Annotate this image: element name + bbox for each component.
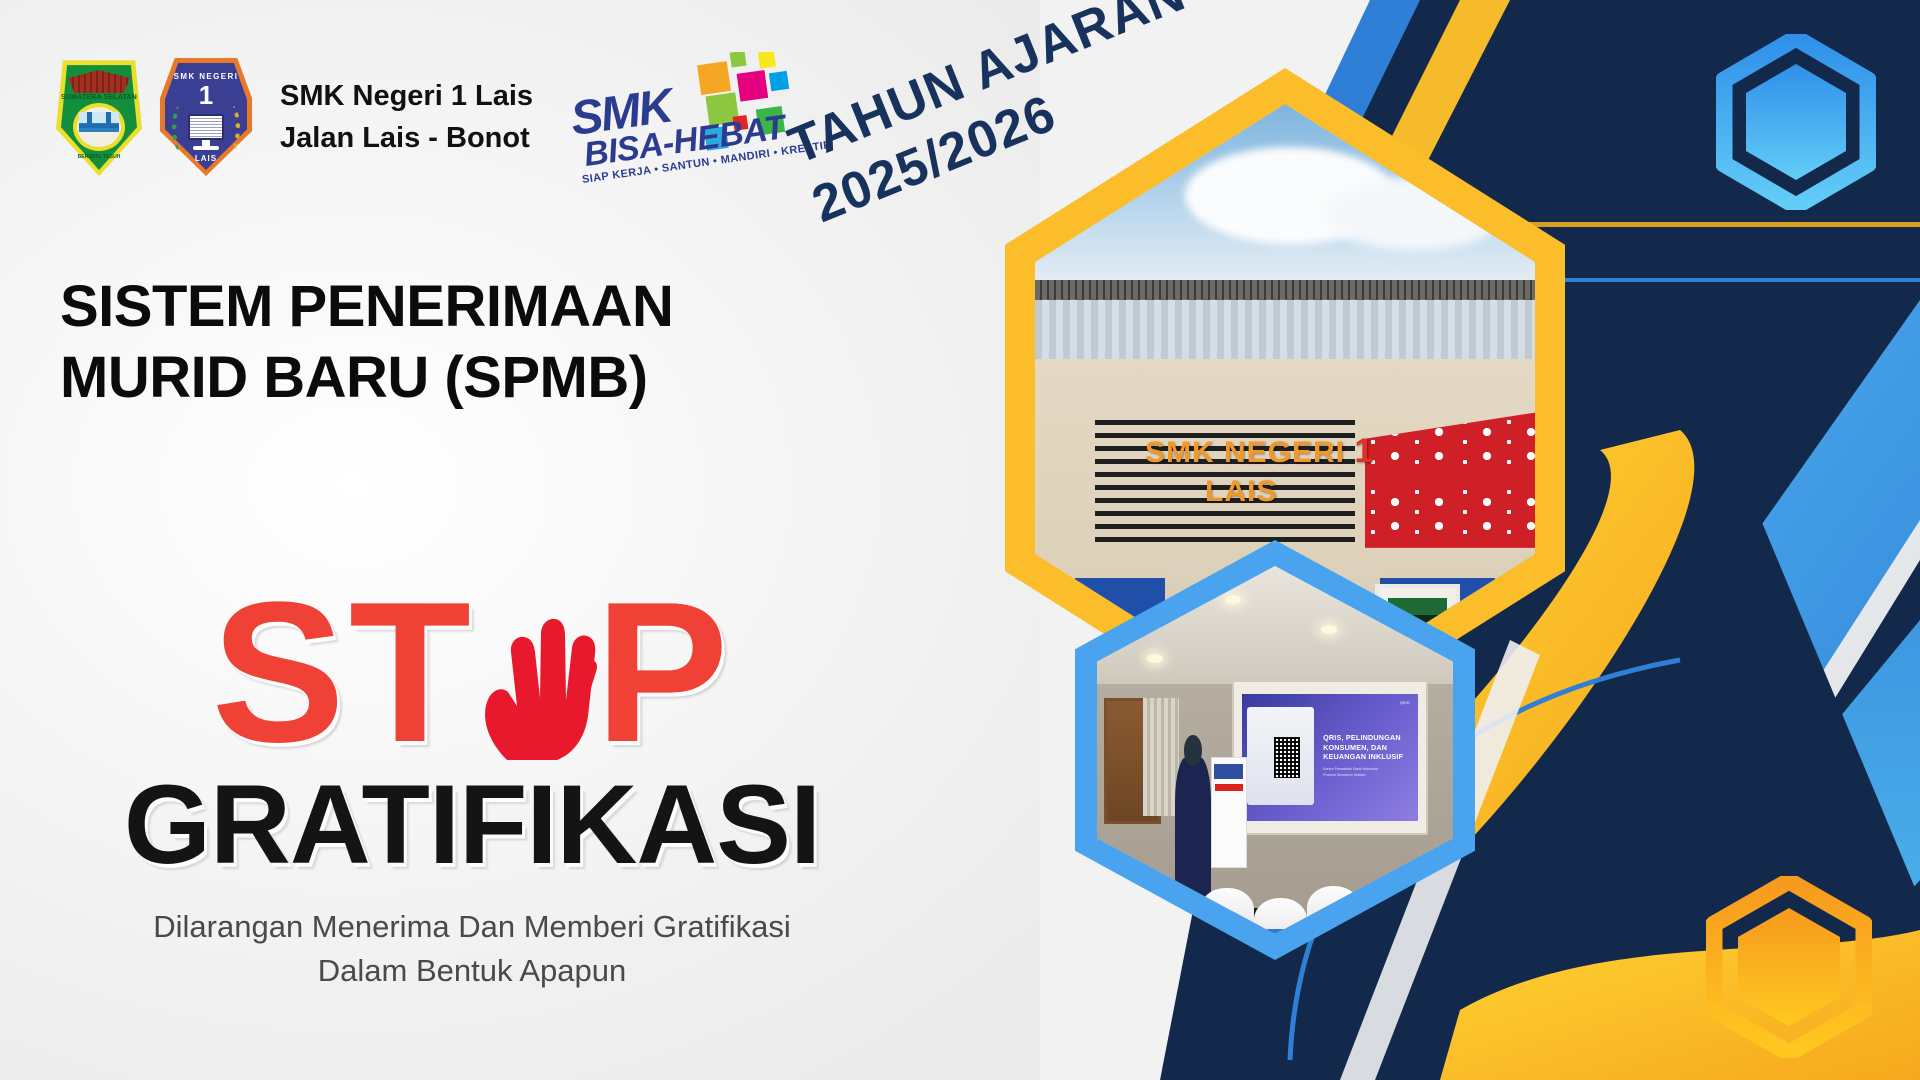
laurel-left [172, 106, 186, 150]
building-sign-line1: SMK NEGERI 1 [1145, 432, 1374, 471]
emblem-bottom-text: BERSATU TEGUH [56, 154, 142, 160]
blue-hexagon-icon [1716, 34, 1876, 210]
slide-sub-line2: Provinsi Sumatera Selatan [1323, 773, 1411, 778]
smk-bisa-hebat-logo: SMK BISA-HEBAT SIAP KERJA • SANTUN • MAN… [573, 52, 813, 182]
poster-canvas: SMK NEGERI 1 LAIS [0, 0, 1920, 1080]
building-sign-line2: LAIS [1205, 475, 1277, 509]
speaker-head [1184, 735, 1203, 766]
gratifikasi-sub-line2: Dalam Bentuk Apapun [62, 949, 882, 993]
page-title-line1: SISTEM PENERIMAAN [60, 272, 673, 343]
page-title: SISTEM PENERIMAAN MURID BARU (SPMB) [60, 272, 673, 414]
orange-hexagon-icon [1706, 876, 1872, 1058]
sign-text: SMK NEGERI [1145, 436, 1345, 469]
gratifikasi-sub-line1: Dilarangan Menerima Dan Memberi Gratifik… [62, 905, 882, 949]
banner-header [1214, 764, 1244, 779]
emblem-bridge-deck [79, 124, 119, 128]
roof-edge [1035, 280, 1535, 299]
window-blinds [1143, 698, 1179, 816]
student [1410, 885, 1453, 930]
emblem-bridge [79, 112, 119, 132]
ceiling-light [1321, 625, 1337, 634]
chair [1122, 908, 1161, 934]
school-name-block: SMK Negeri 1 Lais Jalan Lais - Bonot [280, 75, 533, 159]
school-emblem-icon: SMK NEGERI 1 LAIS [160, 58, 252, 176]
student [1097, 886, 1143, 931]
computer-monitor-icon [188, 114, 224, 140]
school-name-line1: SMK Negeri 1 Lais [280, 75, 533, 117]
slide-title: QRIS, PELINDUNGAN KONSUMEN, DAN KEUANGAN… [1323, 733, 1413, 762]
slide-subtitle: Kantor Perwakilan Bank Indonesia Provins… [1323, 767, 1411, 778]
emblem-top-text: SUMATERA SELATAN [56, 94, 142, 101]
stop-word-row: ST P [62, 560, 882, 785]
banner-accent [1215, 784, 1243, 791]
qr-code-graphic [1274, 737, 1300, 777]
slide-title-line3: KEUANGAN INKLUSIF [1323, 752, 1413, 762]
page-title-line2: MURID BARU (SPMB) [60, 343, 673, 414]
school-address-line: Jalan Lais - Bonot [280, 117, 533, 159]
slide-brand-label: QRIS [1400, 700, 1410, 705]
monitor-base [193, 146, 219, 150]
open-palm-icon [471, 610, 599, 760]
seminar-photo-hexagon: QRIS QRIS, PELINDUNGAN KONSUMEN, DAN KEU… [1075, 540, 1475, 960]
stop-hand-icon [471, 598, 599, 748]
laurel-right [226, 106, 240, 150]
gratifikasi-subtext: Dilarangan Menerima Dan Memberi Gratifik… [62, 905, 882, 993]
school-emblem-number: 1 [160, 82, 252, 108]
roof-fascia [1035, 299, 1535, 360]
sign-number: 1 [1354, 432, 1374, 470]
header-logo-bar: SUMATERA SELATAN BERSATU TEGUH SMK NEGER… [56, 52, 813, 182]
stop-gratifikasi-logo: ST P GRATIFIKASI Dilarangan Menerima Dan… [62, 560, 882, 993]
slide-title-line2: KONSUMEN, DAN [1323, 743, 1413, 753]
slide-title-line1: QRIS, PELINDUNGAN [1323, 733, 1413, 743]
gratifikasi-headline: GRATIFIKASI [62, 769, 882, 881]
sumatera-selatan-emblem-icon: SUMATERA SELATAN BERSATU TEGUH [56, 58, 142, 176]
stop-word-st: ST [212, 573, 476, 773]
stop-word-p: P [595, 573, 732, 773]
school-emblem-bottom-text: LAIS [160, 154, 252, 163]
